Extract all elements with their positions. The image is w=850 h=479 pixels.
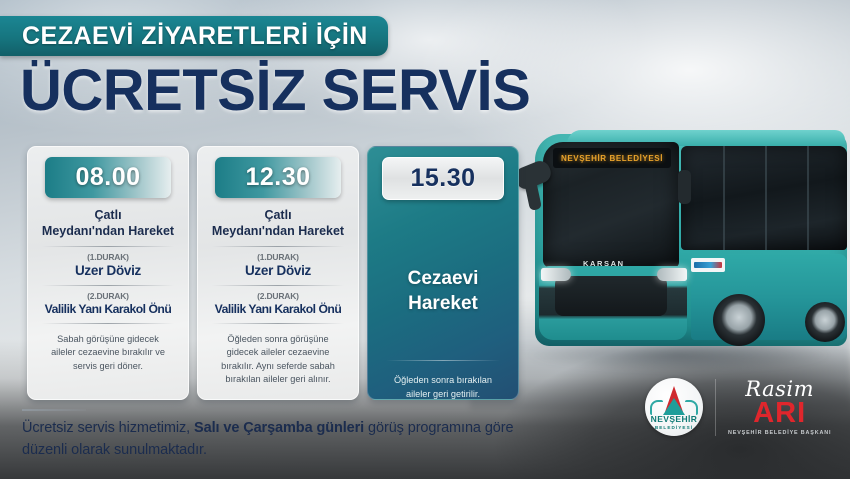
time-value: 15.30 xyxy=(410,164,475,193)
mayor-title: NEVŞEHİR BELEDİYE BAŞKANI xyxy=(728,430,831,436)
divider xyxy=(42,246,174,247)
mayor-last-name: ARI xyxy=(753,399,806,428)
time-value: 08.00 xyxy=(75,163,140,192)
bus-headlight-right xyxy=(657,268,687,281)
footer-divider xyxy=(22,409,86,411)
nevsehir-municipality-logo-icon: NEVŞEHİR BELEDİYESİ xyxy=(645,378,703,436)
divider xyxy=(212,285,344,286)
stop-label-1: (1.DURAK) xyxy=(206,252,350,262)
bus-illustration: NEVŞEHİR BELEDİYESİ KARSAN xyxy=(505,126,850,391)
departure-point-1530: Cezaevi Hareket xyxy=(376,267,510,316)
departure-line-1: Çatlı xyxy=(36,207,180,223)
departure-line-2: Meydanı'ndan Hareket xyxy=(206,223,350,239)
municipality-name: NEVŞEHİR xyxy=(651,414,698,424)
divider xyxy=(212,246,344,247)
departure-line-2: Hareket xyxy=(376,292,510,317)
schedule-cards: 08.00 Çatlı Meydanı'ndan Hareket (1.DURA… xyxy=(27,146,519,400)
fairy-chimney-teal-icon xyxy=(663,398,685,415)
kicker-badge: CEZAEVİ ZİYARETLERİ İÇİN xyxy=(0,16,388,56)
bus-wheel-front xyxy=(713,294,765,346)
bus-side-windows xyxy=(681,146,847,250)
time-badge-1530: 15.30 xyxy=(382,157,504,200)
divider xyxy=(42,285,174,286)
time-badge-1230: 12.30 xyxy=(215,157,341,198)
card-note-0800: Sabah görüşüne gidecek aileler cezaevine… xyxy=(36,333,180,373)
footer-text-before: Ücretsiz servis hizmetimiz, xyxy=(22,420,194,436)
wing-left-icon xyxy=(650,400,663,415)
stop-label-1: (1.DURAK) xyxy=(36,252,180,262)
time-badge-0800: 08.00 xyxy=(45,157,171,198)
departure-line-1: Cezaevi xyxy=(376,267,510,292)
divider xyxy=(42,323,174,324)
mayor-signature-logo: Rasim ARI NEVŞEHİR BELEDİYE BAŞKANI xyxy=(715,379,831,436)
card-note-1230: Öğleden sonra görüşüne gidecek aileler c… xyxy=(206,333,350,386)
stop-name-2: Valilik Yanı Karakol Önü xyxy=(36,302,180,316)
bus-mirror-right xyxy=(678,170,691,204)
divider xyxy=(212,323,344,324)
bus-brand-label: KARSAN xyxy=(583,259,625,268)
time-value: 12.30 xyxy=(245,163,310,192)
poster: NEVŞEHİR BELEDİYESİ KARSAN CEZAEVİ ZİYAR… xyxy=(0,0,850,479)
page-title: ÜCRETSİZ SERVİS xyxy=(20,62,530,120)
bus-door-sticker xyxy=(691,258,725,272)
stop-label-2: (2.DURAK) xyxy=(206,291,350,301)
footer-note: Ücretsiz servis hizmetimiz, Salı ve Çarş… xyxy=(22,418,527,462)
stop-name-2: Valilik Yanı Karakol Önü xyxy=(206,302,350,316)
bus-destination-sign: NEVŞEHİR BELEDİYESİ xyxy=(553,148,671,168)
bus-wheel-rear xyxy=(805,302,845,342)
card-note-1530: Öğleden sonra bırakılan aileler geri get… xyxy=(376,374,510,400)
kicker-text: CEZAEVİ ZİYARETLERİ İÇİN xyxy=(22,22,368,51)
stop-name-1: Uzer Döviz xyxy=(36,263,180,278)
divider xyxy=(386,360,500,361)
departure-point-1230: Çatlı Meydanı'ndan Hareket xyxy=(206,207,350,239)
logo-group: NEVŞEHİR BELEDİYESİ Rasim ARI NEVŞEHİR B… xyxy=(645,378,831,436)
schedule-card-0800: 08.00 Çatlı Meydanı'ndan Hareket (1.DURA… xyxy=(27,146,189,400)
bus-headlight-left xyxy=(541,268,571,281)
bus-destination-text: NEVŞEHİR BELEDİYESİ xyxy=(561,154,663,163)
departure-line-2: Meydanı'ndan Hareket xyxy=(36,223,180,239)
departure-line-1: Çatlı xyxy=(206,207,350,223)
schedule-card-1230: 12.30 Çatlı Meydanı'ndan Hareket (1.DURA… xyxy=(197,146,359,400)
departure-point-0800: Çatlı Meydanı'ndan Hareket xyxy=(36,207,180,239)
footer-text-bold: Salı ve Çarşamba günleri xyxy=(194,420,364,436)
stop-label-2: (2.DURAK) xyxy=(36,291,180,301)
municipality-subtitle: BELEDİYESİ xyxy=(655,425,693,430)
stop-name-1: Uzer Döviz xyxy=(206,263,350,278)
wing-right-icon xyxy=(685,400,698,415)
bus-grille xyxy=(555,276,667,316)
schedule-card-1530: 15.30 Cezaevi Hareket Öğleden sonra bıra… xyxy=(367,146,519,400)
